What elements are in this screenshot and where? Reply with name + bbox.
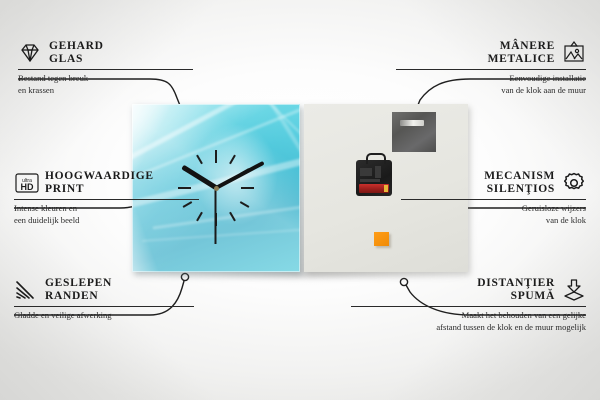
callout-rule xyxy=(351,306,586,307)
mechanism-detail xyxy=(360,168,372,176)
callout-silent-mechanism: MECANISM SILENŢIOS Geruisloze wijzers va… xyxy=(401,170,586,226)
callout-subtitle: Gladde en veilige afwerking xyxy=(14,310,194,322)
callout-tempered-glass: GEHARD GLAS Bestand tegen breuk en krass… xyxy=(18,40,193,96)
callout-rule xyxy=(14,199,199,200)
callout-title-row: MECANISM SILENŢIOS xyxy=(401,170,586,196)
diamond-icon xyxy=(18,41,42,65)
callout-rule xyxy=(14,306,194,307)
callout-hd-print: ultra HD HOOGWAARDIGE PRINT Intense kleu… xyxy=(14,170,199,226)
quartz-mechanism xyxy=(356,160,392,196)
ultra-hd-icon: ultra HD xyxy=(14,171,38,195)
callout-title: MECANISM SILENŢIOS xyxy=(484,170,555,196)
callout-subtitle: Maakt het behouden van een gelijke afsta… xyxy=(351,310,586,333)
callout-rule xyxy=(18,69,193,70)
callout-title: DISTANŢIER SPUMĂ xyxy=(477,277,555,303)
clock-center-pin xyxy=(214,186,219,191)
hanger-slot xyxy=(400,120,424,126)
mechanism-detail xyxy=(375,166,381,178)
callout-title-row: DISTANŢIER SPUMĂ xyxy=(351,277,586,303)
callout-title-row: GEHARD GLAS xyxy=(18,40,193,66)
infographic-canvas: GEHARD GLAS Bestand tegen breuk en krass… xyxy=(0,0,600,400)
picture-frame-icon xyxy=(562,41,586,65)
callout-rule xyxy=(396,69,586,70)
callout-metal-handles: MÂNERE METALICE Eenvoudige installatie v… xyxy=(396,40,586,96)
mechanism-detail xyxy=(360,179,380,182)
hanger-loop xyxy=(366,153,386,164)
callout-title: GEHARD GLAS xyxy=(49,40,104,66)
callout-foam-spacer: DISTANŢIER SPUMĂ Maakt het behouden van … xyxy=(351,277,586,333)
metal-hanger-plate xyxy=(392,112,436,152)
callout-title-row: ultra HD HOOGWAARDIGE PRINT xyxy=(14,170,199,196)
gear-icon xyxy=(562,171,586,195)
callout-title: MÂNERE METALICE xyxy=(488,40,555,66)
callout-subtitle: Geruisloze wijzers van de klok xyxy=(401,203,586,226)
callout-subtitle: Eenvoudige installatie van de klok aan d… xyxy=(396,73,586,96)
callout-subtitle: Intense kleuren en een duidelijk beeld xyxy=(14,203,199,226)
battery xyxy=(359,184,389,193)
svg-text:HD: HD xyxy=(21,182,34,192)
callout-rule xyxy=(401,199,586,200)
callout-title-row: MÂNERE METALICE xyxy=(396,40,586,66)
callout-title: HOOGWAARDIGE PRINT xyxy=(45,170,154,196)
foam-spacer xyxy=(374,232,389,246)
callout-ground-edges: GESLEPEN RANDEN Gladde en veilige afwerk… xyxy=(14,277,194,322)
callout-subtitle: Bestand tegen breuk en krassen xyxy=(18,73,193,96)
ground-edges-icon xyxy=(14,278,38,302)
callout-title: GESLEPEN RANDEN xyxy=(45,277,112,303)
callout-title-row: GESLEPEN RANDEN xyxy=(14,277,194,303)
spacer-arrow-icon xyxy=(562,278,586,302)
